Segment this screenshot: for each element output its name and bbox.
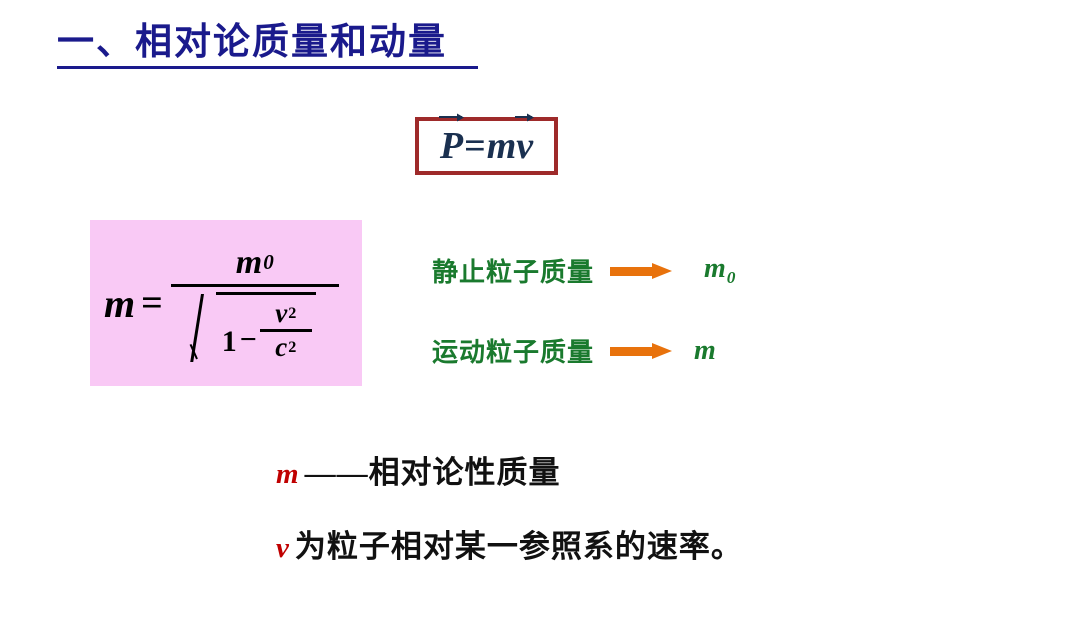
velocity-symbol: v xyxy=(275,298,287,329)
moving-mass-glyph: m xyxy=(694,335,716,366)
mass-fraction: m0 1 − v2 c2 xyxy=(171,244,339,363)
annotation-moving-mass-label: 运动粒子质量 xyxy=(432,332,594,369)
explanation-mass-text: ——相对论性质量 xyxy=(305,447,561,492)
momentum-mass-symbol: m xyxy=(487,124,517,168)
arrow-shaft xyxy=(610,347,654,356)
rest-mass-glyph-subscript: 0 xyxy=(727,268,736,287)
page-title: 一、相对论质量和动量 xyxy=(57,24,447,63)
lightspeed-exponent: 2 xyxy=(288,338,296,357)
title-underline xyxy=(57,66,478,69)
mass-formula-equals-sign: = xyxy=(141,281,163,325)
explanation-velocity: v 为粒子相对某一参照系的速率。 xyxy=(276,521,743,566)
velocity-squared-numerator: v2 xyxy=(272,298,299,329)
rest-mass-glyph: m xyxy=(704,253,726,284)
arrow-head xyxy=(652,343,672,359)
radical-sign xyxy=(194,292,216,363)
mass-formula-lhs: m xyxy=(104,280,135,327)
radicand-one: 1 xyxy=(222,325,237,363)
explanation-relativistic-mass: m ——相对论性质量 xyxy=(276,447,561,492)
explanation-velocity-text: 为粒子相对某一参照系的速率。 xyxy=(295,521,743,566)
lightspeed-squared-denominator: c2 xyxy=(272,332,299,363)
mass-formula: m = m0 1 − v2 xyxy=(90,220,362,386)
rest-mass-subscript: 0 xyxy=(263,250,274,275)
right-arrow-icon xyxy=(610,263,672,279)
radicand-minus-sign: − xyxy=(237,323,260,363)
velocity-ratio-fraction: v2 c2 xyxy=(260,298,312,363)
right-arrow-icon xyxy=(610,343,672,359)
rest-mass-symbol: m xyxy=(236,244,262,282)
momentum-vector-v: v xyxy=(516,127,533,165)
annotation-rest-mass-symbol: m0 xyxy=(704,253,735,289)
arrow-shaft xyxy=(610,267,654,276)
momentum-equals-sign: = xyxy=(464,124,486,168)
annotation-rest-mass: 静止粒子质量 m0 xyxy=(432,252,735,289)
momentum-formula: P=mv xyxy=(419,121,554,171)
square-root-icon: 1 − v2 c2 xyxy=(194,290,316,363)
annotation-moving-mass: 运动粒子质量 m xyxy=(432,332,716,369)
mass-fraction-denominator: 1 − v2 c2 xyxy=(190,287,320,363)
explanation-velocity-symbol: v xyxy=(276,532,289,565)
annotation-moving-mass-symbol: m xyxy=(694,335,716,367)
mass-fraction-numerator: m0 xyxy=(232,244,278,284)
momentum-vector-p: P xyxy=(440,127,463,165)
lightspeed-symbol: c xyxy=(275,332,287,363)
radicand: 1 − v2 c2 xyxy=(216,292,316,363)
explanation-mass-symbol: m xyxy=(276,458,299,491)
velocity-exponent: 2 xyxy=(288,304,296,323)
mass-formula-panel: m = m0 1 − v2 xyxy=(90,220,362,386)
arrow-head xyxy=(652,263,672,279)
annotation-rest-mass-label: 静止粒子质量 xyxy=(432,252,594,289)
momentum-formula-box: P=mv xyxy=(415,117,558,175)
